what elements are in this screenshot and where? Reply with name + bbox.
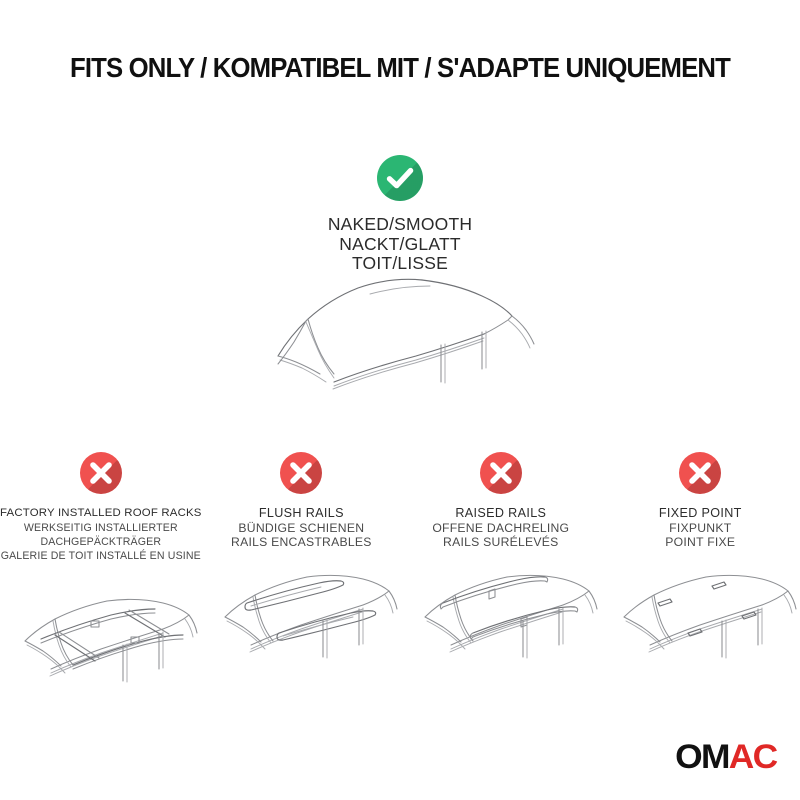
- x-circle-icon: [679, 452, 721, 494]
- roof-type-caption: RAISED RAILS OFFENE DACHRELING RAILS SUR…: [401, 506, 600, 549]
- car-roof-factory-racks-illustration: [0, 569, 202, 719]
- logo-text-dark: OM: [675, 738, 729, 776]
- caption-line-1: FIXED POINT: [601, 506, 800, 521]
- approved-caption: NAKED/SMOOTH NACKT/GLATT TOIT/LISSE: [328, 215, 472, 274]
- caption-line-3: POINT FIXE: [601, 535, 800, 549]
- caption-line-2: BÜNDIGE SCHIENEN: [202, 521, 401, 535]
- page-title: FITS ONLY / KOMPATIBEL MIT / S'ADAPTE UN…: [26, 52, 774, 84]
- caption-line-2: OFFENE DACHRELING: [401, 521, 600, 535]
- compatibility-infographic: FITS ONLY / KOMPATIBEL MIT / S'ADAPTE UN…: [0, 0, 800, 800]
- roof-type-caption: FLUSH RAILS BÜNDIGE SCHIENEN RAILS ENCAS…: [202, 506, 401, 549]
- approved-caption-line-2: NACKT/GLATT: [328, 235, 472, 255]
- caption-line-2: FIXPUNKT: [601, 521, 800, 535]
- roof-type-flush-rails: FLUSH RAILS BÜNDIGE SCHIENEN RAILS ENCAS…: [202, 452, 401, 705]
- approved-caption-line-1: NAKED/SMOOTH: [328, 215, 472, 235]
- approved-caption-line-3: TOIT/LISSE: [328, 254, 472, 274]
- caption-line-4: GALERIE DE TOIT INSTALLÉ EN USINE: [0, 549, 202, 563]
- omac-logo: OMAC: [675, 740, 776, 774]
- caption-line-1: FLUSH RAILS: [202, 506, 401, 521]
- roof-type-raised-rails: RAISED RAILS OFFENE DACHRELING RAILS SUR…: [401, 452, 600, 705]
- car-roof-raised-rails-illustration: [401, 555, 600, 705]
- caption-line-3: DACHGEPÄCKTRÄGER: [0, 535, 202, 549]
- x-circle-icon: [80, 452, 122, 494]
- logo-text-red: AC: [728, 738, 776, 776]
- approved-roof-type: NAKED/SMOOTH NACKT/GLATT TOIT/LISSE: [0, 155, 800, 274]
- x-circle-icon: [280, 452, 322, 494]
- roof-type-factory-racks: FACTORY INSTALLED ROOF RACKS WERKSEITIG …: [0, 452, 202, 719]
- check-circle-icon: [377, 155, 423, 201]
- caption-line-3: RAILS ENCASTRABLES: [202, 535, 401, 549]
- car-roof-naked-smooth-illustration: [250, 272, 550, 397]
- x-circle-icon: [480, 452, 522, 494]
- caption-line-1: RAISED RAILS: [401, 506, 600, 521]
- incompatible-roof-types: FACTORY INSTALLED ROOF RACKS WERKSEITIG …: [0, 452, 800, 719]
- car-roof-flush-rails-illustration: [202, 555, 401, 705]
- car-roof-fixed-point-illustration: [601, 555, 800, 705]
- caption-line-3: RAILS SURÉLEVÉS: [401, 535, 600, 549]
- roof-type-caption: FACTORY INSTALLED ROOF RACKS WERKSEITIG …: [0, 506, 202, 563]
- roof-type-caption: FIXED POINT FIXPUNKT POINT FIXE: [601, 506, 800, 549]
- roof-type-fixed-point: FIXED POINT FIXPUNKT POINT FIXE: [601, 452, 800, 705]
- caption-line-1: FACTORY INSTALLED ROOF RACKS: [0, 506, 202, 521]
- caption-line-2: WERKSEITIG INSTALLIERTER: [0, 521, 202, 535]
